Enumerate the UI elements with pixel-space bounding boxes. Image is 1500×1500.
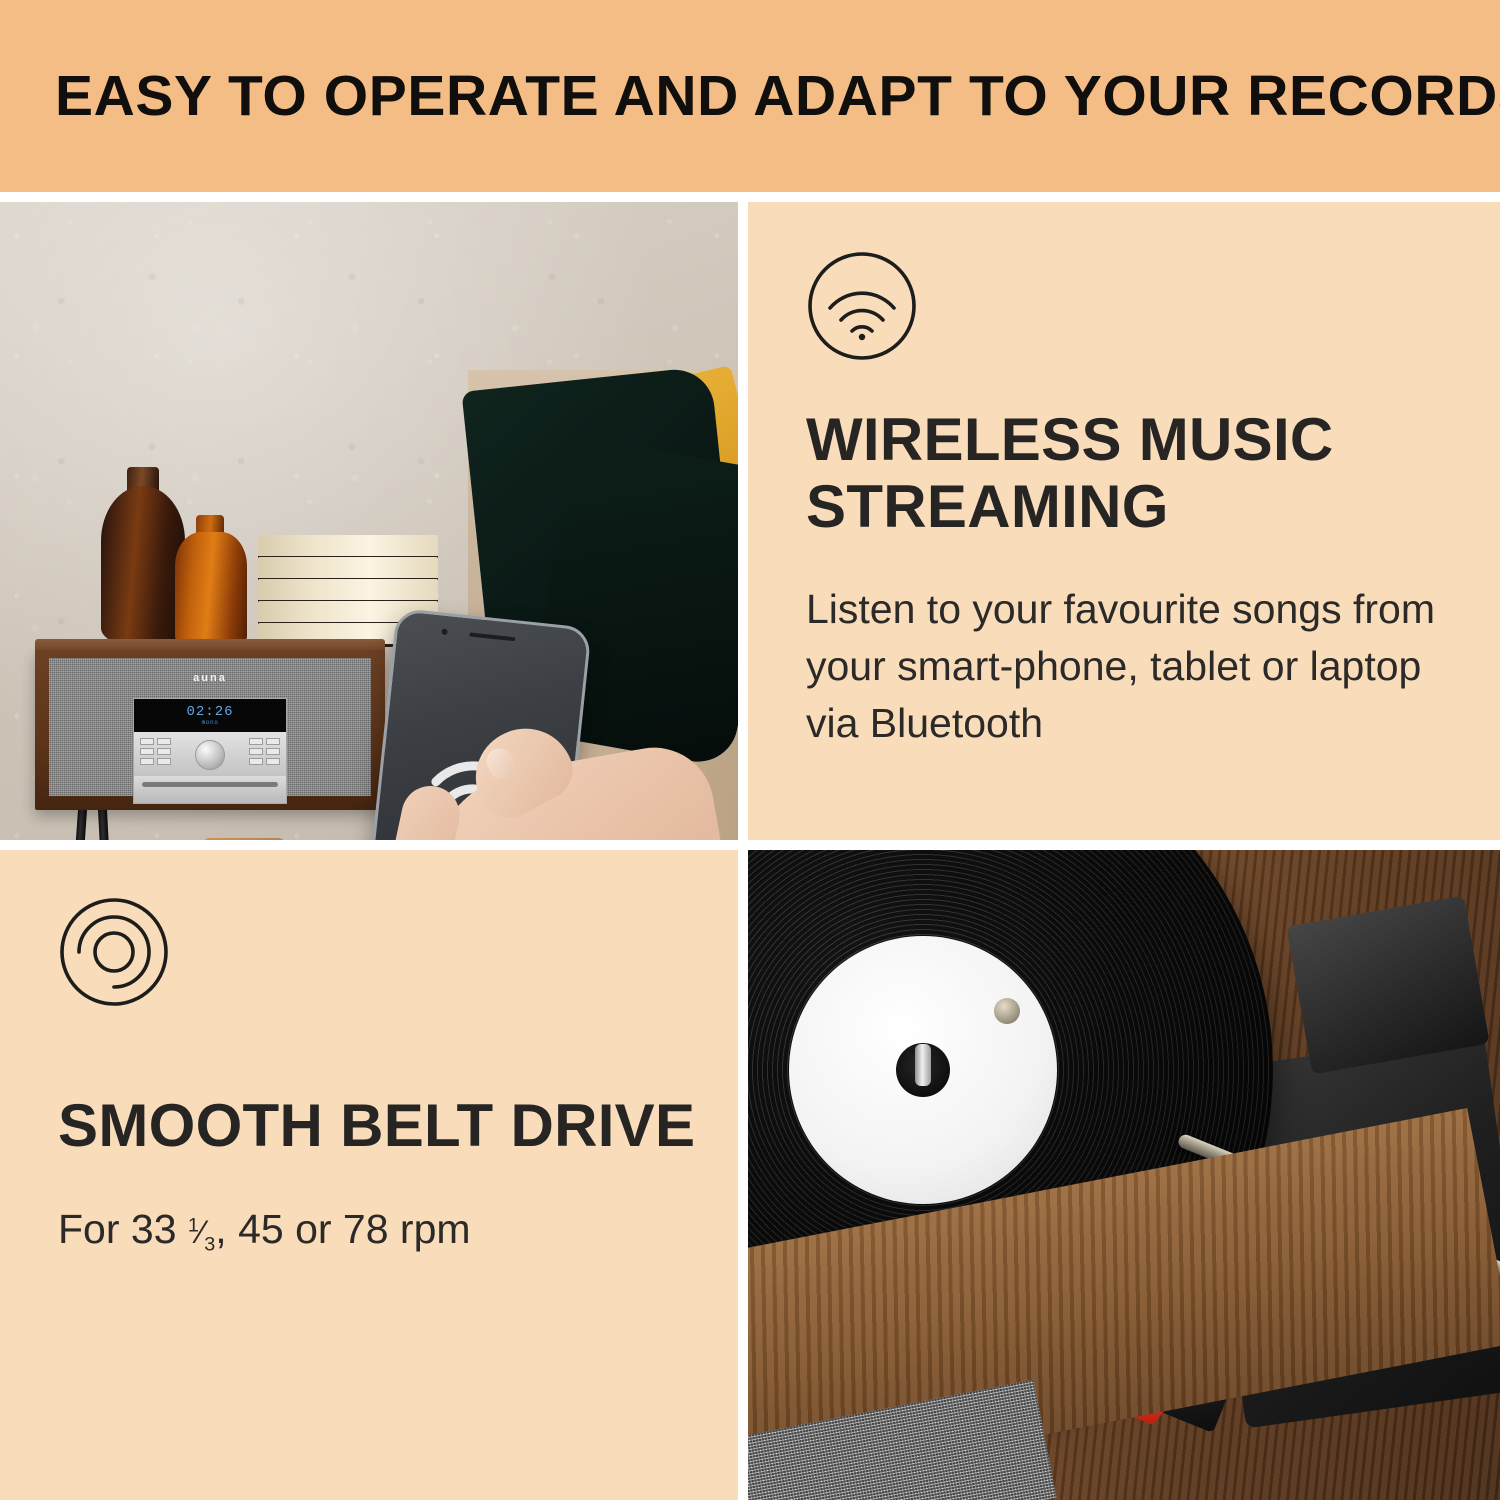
fraction-one-third: 1⁄3 [188,1214,215,1250]
panel-content: SMOOTH BELT DRIVE For 33 1⁄3, 45 or 78 r… [58,896,698,1300]
stereo-control-panel: 02:26 mono [133,698,287,804]
header-banner: EASY TO OPERATE AND ADAPT TO YOUR RECORD… [0,0,1500,192]
book [258,557,438,581]
phone-earpiece [469,632,515,641]
panel-heading-belt-drive: SMOOTH BELT DRIVE [58,1092,698,1159]
turntable-image [748,850,1500,1500]
preset-button [249,738,263,745]
preset-button [157,748,171,755]
stereo-scene-image: auna 02:26 mono [0,202,738,840]
vinyl-spiral-icon [58,896,170,1008]
preset-button [157,758,171,765]
preset-button [266,758,280,765]
rpm-suffix: , 45 or 78 rpm [215,1206,470,1252]
volume-knob [195,740,225,770]
preset-button [140,738,154,745]
photo-turntable-scene [748,850,1500,1500]
display-time: 02:26 [186,704,233,720]
preset-button [266,738,280,745]
fraction-numerator: 1 [188,1215,199,1237]
panel-body-belt-drive: For 33 1⁄3, 45 or 78 rpm [58,1201,698,1259]
preset-button [249,748,263,755]
stereo-display: 02:26 mono [134,699,286,732]
book [258,535,438,559]
book [258,579,438,603]
phone-camera-icon [441,629,448,636]
spindle [915,1044,931,1086]
preset-button [249,758,263,765]
tonearm-housing [1286,896,1489,1075]
brand-logo: auna [193,672,227,684]
cd-slot [142,782,278,787]
panel-body-wireless: Listen to your favourite songs from your… [806,581,1460,751]
preset-button [266,748,280,755]
preset-button [140,758,154,765]
plinth-screw [994,998,1020,1024]
panel-content: WIRELESS MUSIC STREAMING Listen to your … [806,250,1460,792]
preset-button [157,738,171,745]
wifi-circle-icon [806,250,918,362]
panel-heading-wireless: WIRELESS MUSIC STREAMING [806,406,1446,540]
control-row [134,732,286,776]
panel-wireless-music-streaming: WIRELESS MUSIC STREAMING Listen to your … [748,202,1500,840]
vase-highlight-band [202,838,286,840]
cd-slot-area [134,776,286,803]
vase-orange [175,532,247,650]
button-cluster-left [140,738,171,765]
panel-smooth-belt-drive: SMOOTH BELT DRIVE For 33 1⁄3, 45 or 78 r… [0,850,738,1500]
rpm-prefix: For 33 [58,1206,188,1252]
display-mode: mono [202,719,219,726]
vase-dark-amber [101,486,185,646]
photo-stereo-scene: auna 02:26 mono [0,202,738,840]
stereo-unit: auna 02:26 mono [35,650,385,810]
infographic-page: EASY TO OPERATE AND ADAPT TO YOUR RECORD… [0,0,1500,1500]
button-cluster-right [249,738,280,765]
fraction-denominator: 3 [204,1234,215,1256]
preset-button [140,748,154,755]
page-title: EASY TO OPERATE AND ADAPT TO YOUR RECORD… [55,68,1500,125]
